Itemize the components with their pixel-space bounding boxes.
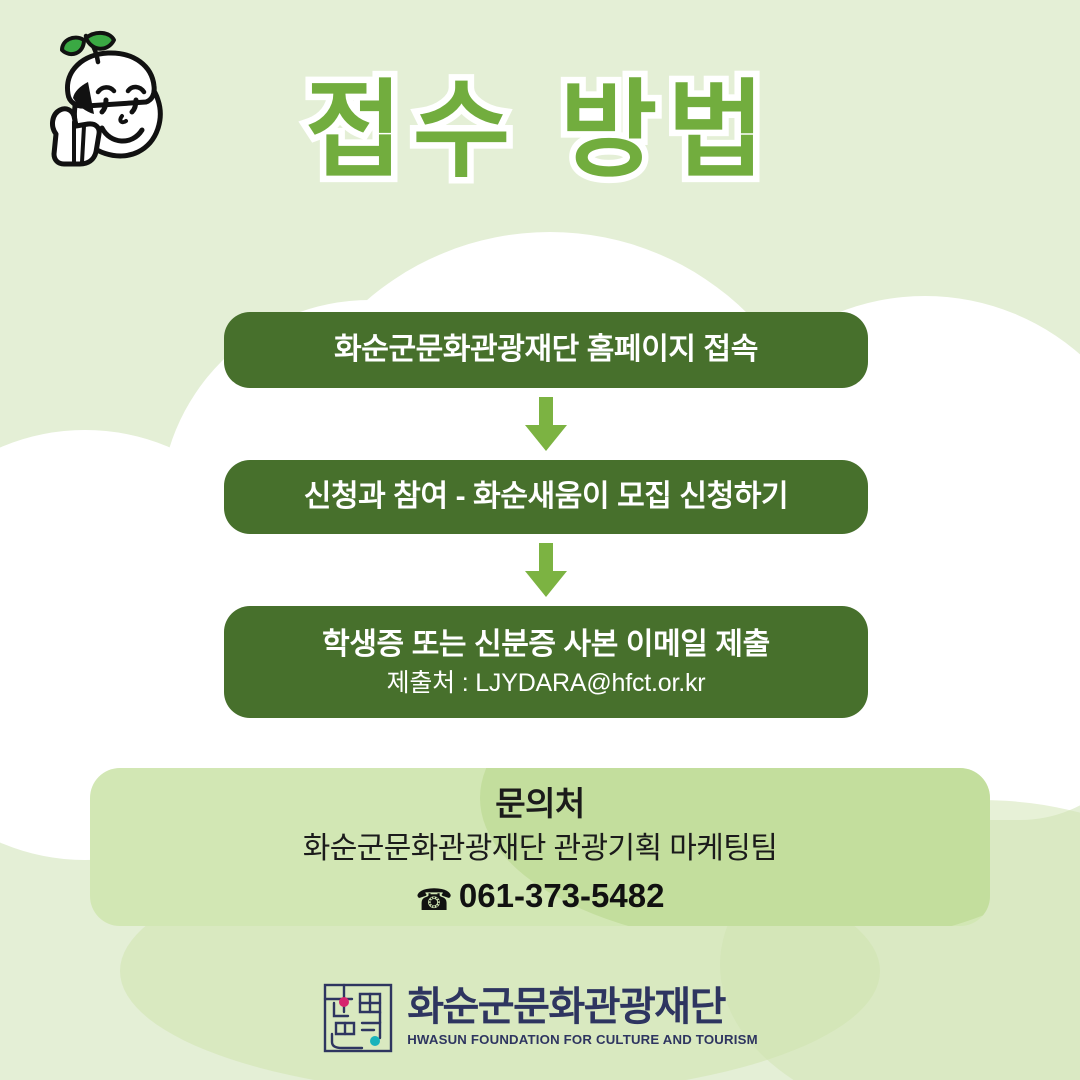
step-1-title: 화순군문화관광재단 홈페이지 접속 (334, 331, 758, 369)
poster-title-wrap: 접수 방법 (0, 72, 1080, 191)
step-box-2[interactable]: 신청과 참여 - 화순새움이 모집 신청하기 (224, 460, 868, 534)
step-box-3[interactable]: 학생증 또는 신분증 사본 이메일 제출 제출처 : LJYDARA@hfct.… (224, 606, 868, 718)
contact-card: 문의처 화순군문화관광재단 관광기획 마케팅팀 ☎061-373-5482 (90, 768, 990, 926)
step-box-1[interactable]: 화순군문화관광재단 홈페이지 접속 (224, 312, 868, 388)
foundation-logo-text: 화순군문화관광재단 HWASUN FOUNDATION FOR CULTURE … (407, 987, 758, 1050)
arrow-down-icon (523, 397, 569, 451)
arrow-row-2 (224, 534, 868, 606)
contact-phone-row: ☎061-373-5482 (90, 872, 990, 923)
contact-heading: 문의처 (90, 782, 990, 827)
step-2-title: 신청과 참여 - 화순새움이 모집 신청하기 (304, 478, 788, 516)
foundation-logo-mark-icon (322, 982, 394, 1054)
foundation-name-en: HWASUN FOUNDATION FOR CULTURE AND TOURIS… (407, 1030, 758, 1050)
poster-root: 접수 방법 화순군문화관광재단 홈페이지 접속 신청과 참여 - 화순새움이 모… (0, 0, 1080, 1080)
footer-logo: 화순군문화관광재단 HWASUN FOUNDATION FOR CULTURE … (0, 982, 1080, 1054)
steps-flow: 화순군문화관광재단 홈페이지 접속 신청과 참여 - 화순새움이 모집 신청하기… (224, 312, 868, 718)
foundation-name-kr: 화순군문화관광재단 (407, 987, 758, 1028)
contact-phone-number: 061-373-5482 (459, 877, 665, 914)
page-title: 접수 방법 (305, 72, 775, 191)
step-3-email: 제출처 : LJYDARA@hfct.or.kr (387, 668, 706, 698)
step-3-title: 학생증 또는 신분증 사본 이메일 제출 (322, 626, 770, 664)
contact-team: 화순군문화관광재단 관광기획 마케팅팀 (90, 827, 990, 871)
telephone-icon: ☎ (416, 879, 453, 923)
arrow-down-icon (523, 543, 569, 597)
arrow-row-1 (224, 388, 868, 460)
